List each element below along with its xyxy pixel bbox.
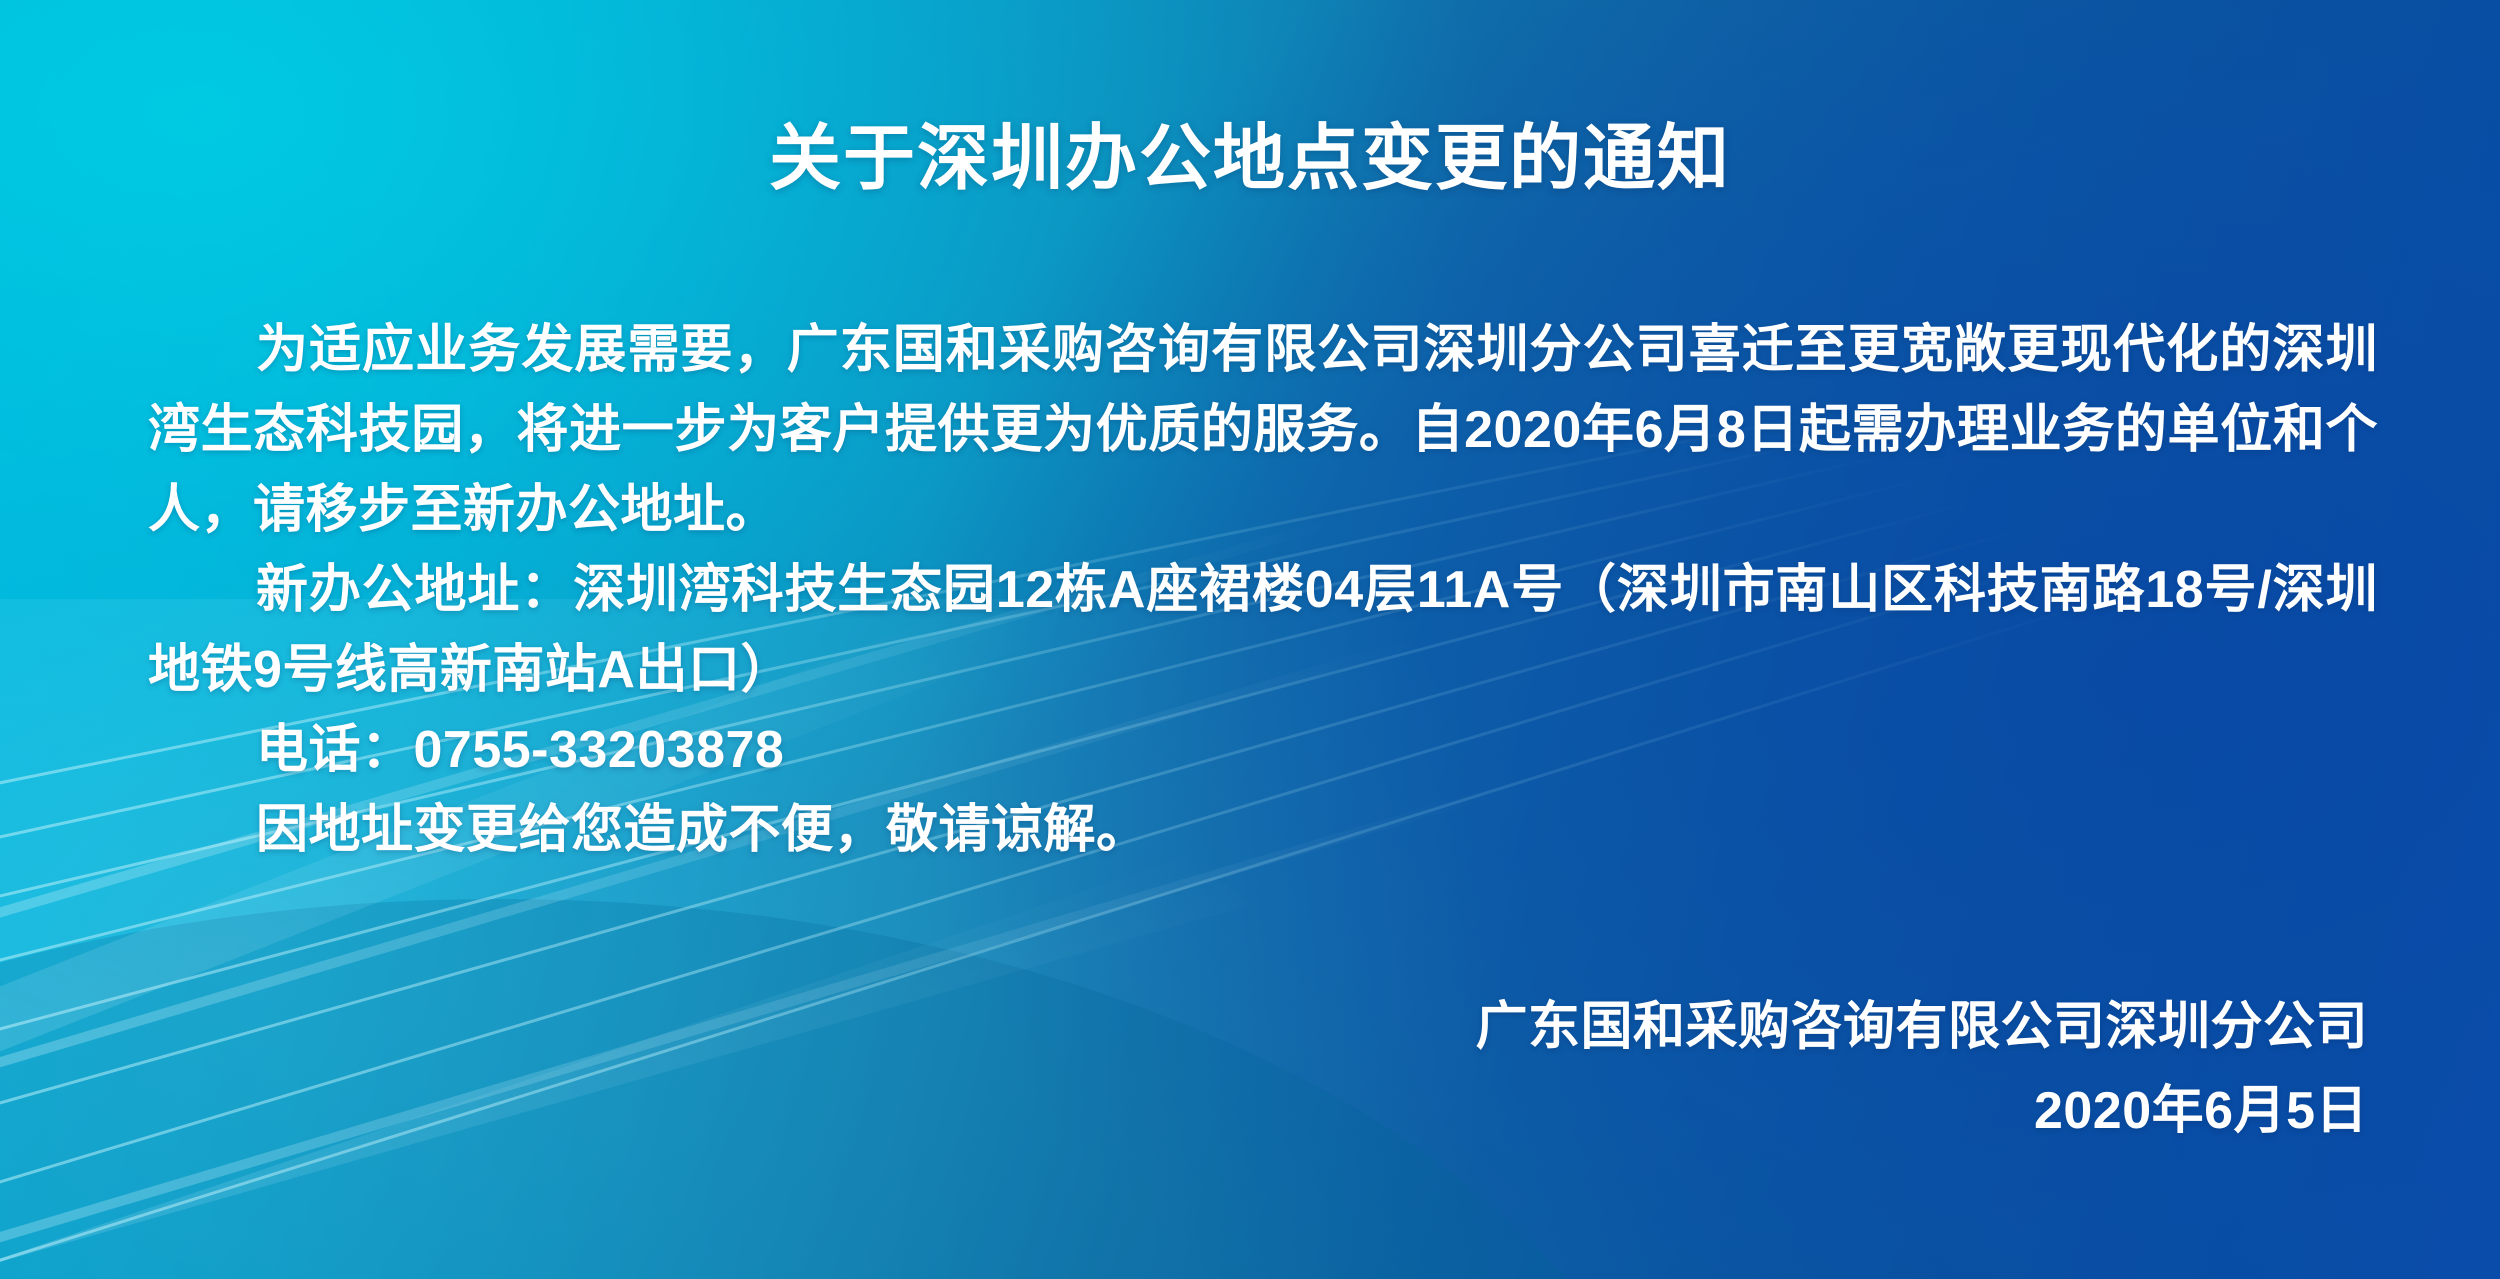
paragraph-apology: 因地址变更给您造成不便，敬请谅解。 xyxy=(148,790,2378,870)
notice-content: 关于深圳办公地点变更的通知 为适应业务发展需要，广东国和采购咨询有限公司深圳分公… xyxy=(0,0,2500,1279)
notice-body: 为适应业务发展需要，广东国和采购咨询有限公司深圳分公司喜迁至更宽敞更现代化的深圳… xyxy=(148,310,2378,870)
paragraph-phone: 电话：0755-33203878 xyxy=(148,710,2378,790)
notice-poster: 关于深圳办公地点变更的通知 为适应业务发展需要，广东国和采购咨询有限公司深圳分公… xyxy=(0,0,2500,1279)
paragraph-new-address: 新办公地址：深圳湾科技生态园12栋A座裙楼04层11A号（深圳市南山区科技南路1… xyxy=(148,550,2378,710)
page-title: 关于深圳办公地点变更的通知 xyxy=(0,118,2500,201)
paragraph-intro: 为适应业务发展需要，广东国和采购咨询有限公司深圳分公司喜迁至更宽敞更现代化的深圳… xyxy=(148,310,2378,550)
signature-block: 广东国和采购咨询有限公司深圳分公司 2020年6月5日 xyxy=(1475,985,2368,1153)
signature-organization: 广东国和采购咨询有限公司深圳分公司 xyxy=(1475,985,2368,1069)
signature-date: 2020年6月5日 xyxy=(1475,1069,2368,1153)
